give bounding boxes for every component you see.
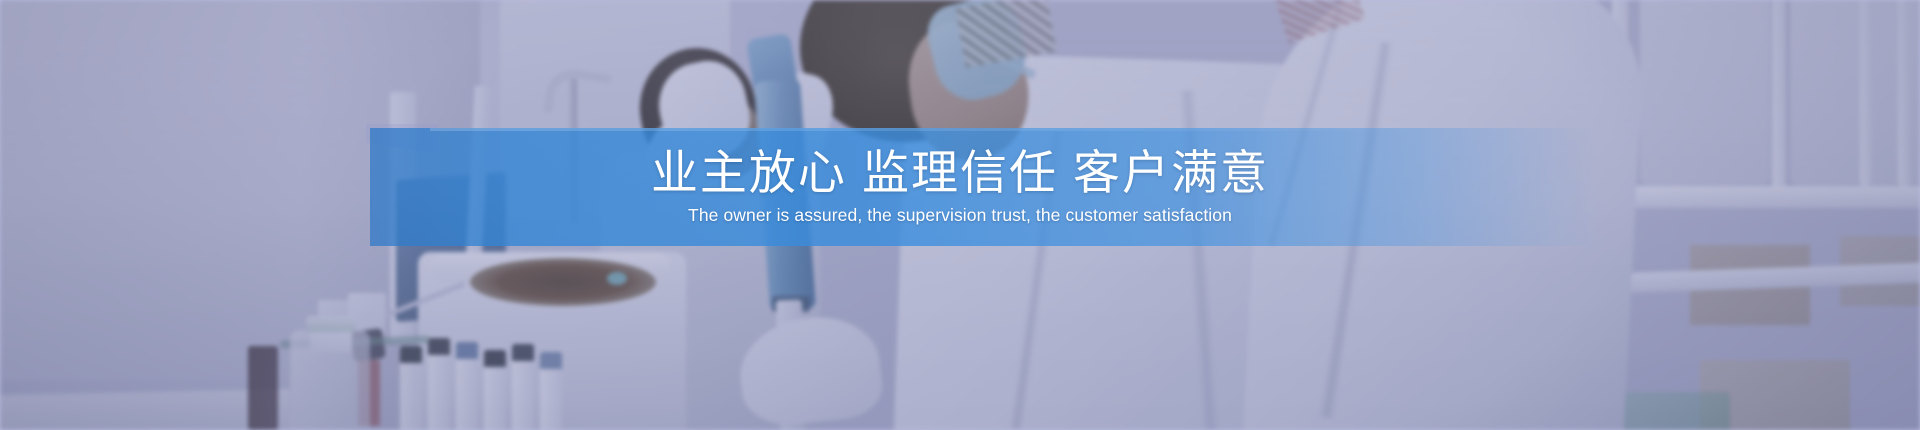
band-top-highlight xyxy=(430,128,1430,131)
slogan-band xyxy=(370,128,1600,246)
hero-banner: 业主放心 监理信任 客户满意 The owner is assured, the… xyxy=(0,0,1920,430)
